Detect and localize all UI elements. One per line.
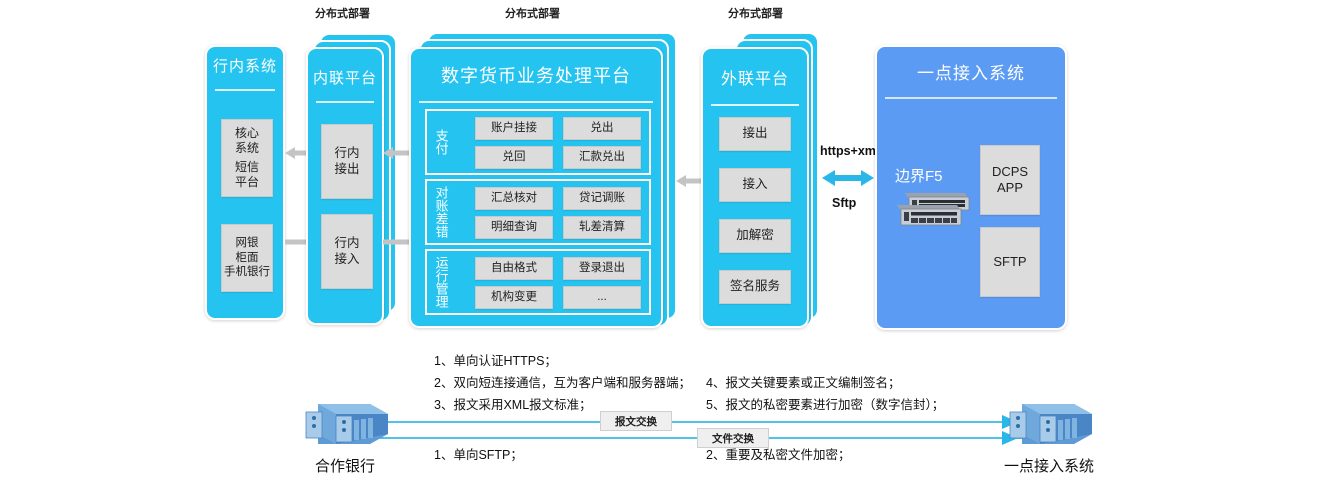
panel-single-access-system-title: 一点接入系统 — [877, 65, 1065, 84]
tile-line: DCPS — [992, 164, 1028, 180]
arrow-external-to-access-bidirectional — [822, 168, 874, 193]
tile-summary-check[interactable]: 汇总核对 — [475, 187, 553, 210]
tile-line: 行内 — [334, 146, 359, 162]
panel-intra-system-title: 行内系统 — [207, 59, 283, 76]
tile-line: 柜面 — [236, 251, 259, 265]
note-message-left-3: 3、报文采用XML报文标准； — [434, 396, 592, 415]
link-label-sftp: Sftp — [832, 196, 856, 210]
divider — [316, 101, 374, 103]
note-message-left-2: 2、双向短连接通信，互为客户端和服务器端； — [434, 374, 691, 393]
tile-online-banking[interactable]: 网银 柜面 手机银行 — [221, 224, 273, 292]
divider — [419, 101, 653, 103]
panel-intra-system[interactable]: 行内系统 核心 系统 短信 平台 网银 柜面 手机银行 — [205, 45, 285, 320]
partner-bank-server-icon — [296, 400, 394, 457]
tile-line: 系统 — [235, 141, 259, 156]
f5-device-icon — [893, 187, 973, 234]
distributed-deploy-label-intranet: 分布式部署 — [315, 5, 370, 21]
tile-more[interactable]: ... — [563, 286, 641, 309]
tile-netting-settlement[interactable]: 轧差清算 — [563, 216, 641, 239]
group-reconciliation-label: 对账差错 — [431, 181, 451, 243]
tile-core-system[interactable]: 核心 系统 短信 平台 — [221, 119, 273, 197]
group-operations: 运行管理 自由格式 登录退出 机构变更 ... — [425, 249, 651, 315]
tile-intra-out[interactable]: 行内 接出 — [321, 124, 373, 199]
tile-line: 平台 — [235, 175, 259, 190]
tile-line: 核心 — [235, 126, 259, 141]
tile-line: 行内 — [334, 236, 359, 252]
tile-detail-query[interactable]: 明细查询 — [475, 216, 553, 239]
divider — [885, 97, 1057, 99]
tile-sftp[interactable]: SFTP — [980, 227, 1040, 297]
divider — [215, 89, 275, 91]
flowline-message-exchange — [352, 421, 1032, 423]
chip-message-exchange[interactable]: 报文交换 — [600, 411, 672, 431]
distributed-deploy-label-core: 分布式部署 — [505, 5, 560, 21]
f5-boundary-label: 边界F5 — [895, 165, 943, 186]
note-file-right-2: 2、重要及私密文件加密； — [706, 446, 850, 465]
single-access-device-label: 一点接入系统 — [1000, 455, 1098, 476]
tile-exchange-back[interactable]: 兑回 — [475, 146, 553, 169]
tile-line: 手机银行 — [224, 265, 270, 279]
group-reconciliation: 对账差错 汇总核对 贷记调账 明细查询 轧差清算 — [425, 179, 651, 245]
tile-external-in[interactable]: 接入 — [719, 168, 791, 202]
tile-line: 网银 — [236, 236, 259, 250]
panel-intranet-platform-title: 内联平台 — [308, 71, 382, 88]
flowline-file-exchange — [352, 437, 1032, 439]
group-payment-label: 支付 — [431, 111, 451, 173]
tile-line: 短信 — [235, 160, 259, 175]
link-label-https-xml: https+xml — [820, 144, 879, 158]
tile-org-change[interactable]: 机构变更 — [475, 286, 553, 309]
chip-file-exchange[interactable]: 文件交换 — [697, 428, 769, 448]
tile-credit-adjust[interactable]: 贷记调账 — [563, 187, 641, 210]
tile-intra-in[interactable]: 行内 接入 — [321, 214, 373, 289]
tile-dcps-app[interactable]: DCPS APP — [980, 145, 1040, 215]
divider — [711, 104, 799, 106]
panel-intranet-platform[interactable]: 内联平台 行内 接出 行内 接入 — [306, 47, 384, 325]
tile-account-link[interactable]: 账户挂接 — [475, 117, 553, 140]
tile-free-format[interactable]: 自由格式 — [475, 257, 553, 280]
group-operations-label: 运行管理 — [431, 251, 451, 313]
panel-core-platform-title: 数字货币业务处理平台 — [411, 67, 661, 87]
tile-line: APP — [997, 180, 1023, 196]
panel-external-platform[interactable]: 外联平台 接出 接入 加解密 签名服务 — [701, 47, 809, 328]
tile-encryption[interactable]: 加解密 — [719, 219, 791, 253]
group-payment: 支付 账户挂接 兑出 兑回 汇款兑出 — [425, 109, 651, 175]
note-message-left-1: 1、单向认证HTTPS； — [434, 352, 557, 371]
distributed-deploy-label-external: 分布式部署 — [728, 5, 783, 21]
tile-login-logout[interactable]: 登录退出 — [563, 257, 641, 280]
panel-core-platform[interactable]: 数字货币业务处理平台 支付 账户挂接 兑出 兑回 汇款兑出 对账差错 汇总核对 … — [409, 47, 663, 328]
single-access-server-icon — [1000, 400, 1098, 457]
panel-single-access-system[interactable]: 一点接入系统 边界F5 — [875, 45, 1067, 330]
tile-line: 接入 — [334, 252, 359, 268]
note-message-right-5: 5、报文的私密要素进行加密（数字信封）； — [706, 396, 944, 415]
tile-line: 接出 — [334, 162, 359, 178]
tile-external-out[interactable]: 接出 — [719, 117, 791, 151]
panel-external-platform-title: 外联平台 — [703, 71, 807, 89]
tile-signature-service[interactable]: 签名服务 — [719, 270, 791, 304]
partner-bank-label: 合作银行 — [296, 455, 394, 476]
note-file-left-1: 1、单向SFTP； — [434, 446, 523, 465]
tile-exchange-out[interactable]: 兑出 — [563, 117, 641, 140]
tile-remittance-out[interactable]: 汇款兑出 — [563, 146, 641, 169]
note-message-right-4: 4、报文关键要素或正文编制签名； — [706, 374, 900, 393]
architecture-diagram: 分布式部署 分布式部署 分布式部署 行内系统 核心 系统 短信 平台 — [0, 0, 1333, 483]
